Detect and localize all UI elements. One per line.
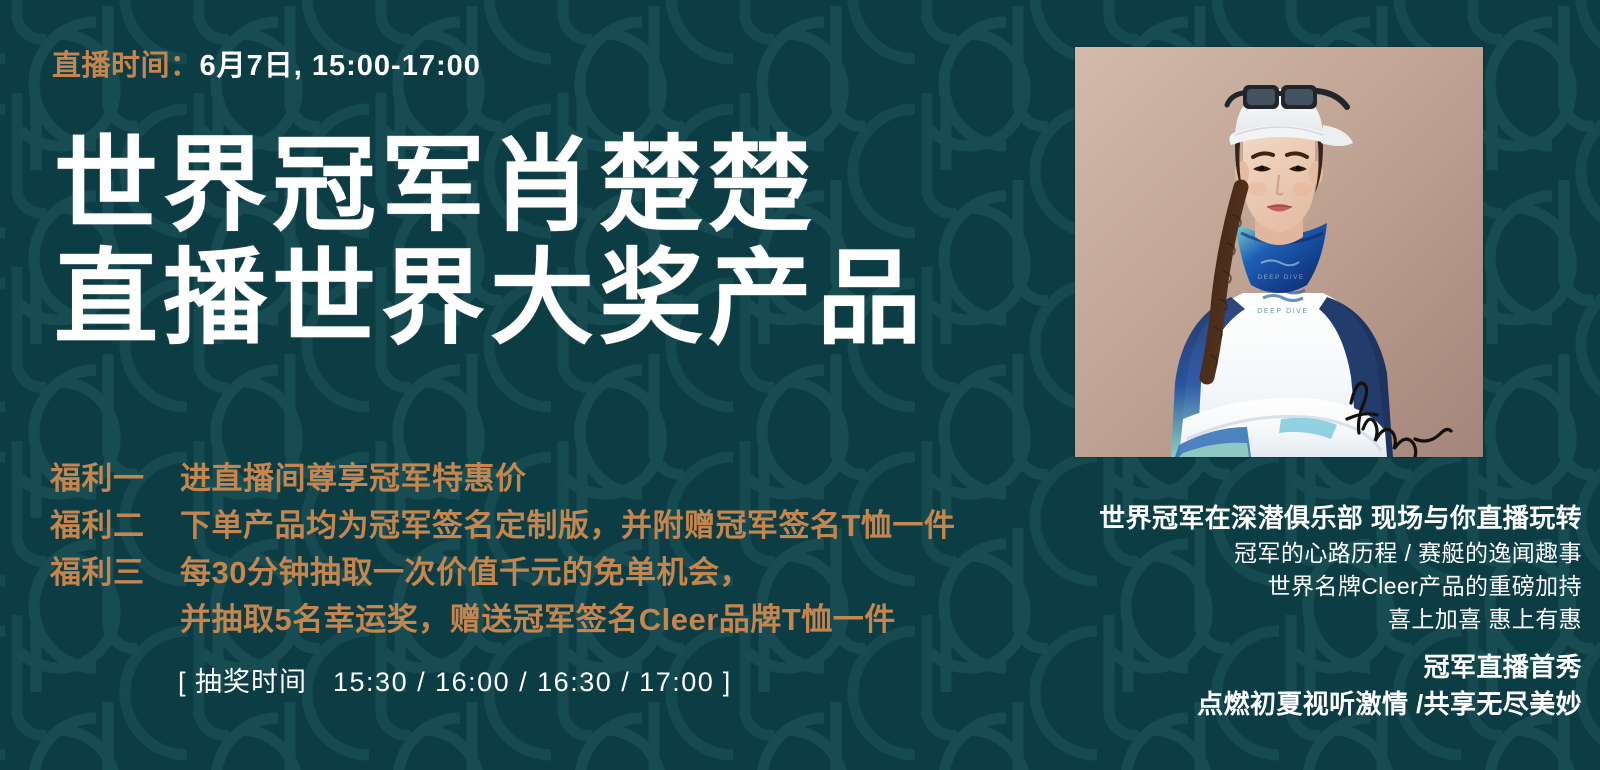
headline-line-2: 直播世界大奖产品 (54, 243, 926, 356)
promo-line-headline: 世界冠军在深潜俱乐部 现场与你直播玩转 (1060, 500, 1582, 537)
svg-text:DEEP DIVE: DEEP DIVE (1257, 308, 1309, 315)
benefit-label: 福利一 (50, 455, 180, 502)
promo-line-5: 点燃初夏视听激情 /共享无尽美妙 (1060, 686, 1582, 723)
benefit-text: 进直播间尊享冠军特惠价 (180, 455, 527, 502)
benefit-text: 并抽取5名幸运奖，赠送冠军签名Cleer品牌T恤一件 (180, 596, 896, 643)
svg-text:DEEP DIVE: DEEP DIVE (1257, 274, 1304, 281)
live-time-label: 直播时间： (52, 50, 200, 82)
benefit-text: 每30分钟抽取一次价值千元的免单机会， (180, 549, 751, 596)
right-promo-text-block: 世界冠军在深潜俱乐部 现场与你直播玩转 冠军的心路历程 / 赛艇的逸闻趣事 世界… (1060, 500, 1582, 723)
benefit-label: 福利三 (50, 549, 180, 596)
lottery-open-bracket: [ (178, 667, 195, 697)
promo-spacer (1060, 636, 1582, 649)
benefit-row: 福利二 下单产品均为冠军签名定制版，并附赠冠军签名T恤一件 (50, 502, 955, 549)
champion-portrait-photo: DEEP DIVE DEEP DIVE (1075, 47, 1483, 457)
promo-line-1: 冠军的心路历程 / 赛艇的逸闻趣事 (1060, 537, 1582, 570)
promo-banner: 直播时间：6月7日, 15:00-17:00 世界冠军肖楚楚 直播世界大奖产品 … (0, 0, 1600, 770)
promo-line-4: 冠军直播首秀 (1060, 649, 1582, 686)
benefit-row: 福利三 每30分钟抽取一次价值千元的免单机会， (50, 549, 955, 596)
lottery-time-note: [ 抽奖时间15:30 / 16:00 / 16:30 / 17:00 ] (178, 660, 731, 699)
right-content-column: DEEP DIVE DEEP DIVE (1060, 0, 1600, 770)
benefit-row: 福利一 进直播间尊享冠军特惠价 (50, 455, 955, 502)
benefit-row-continuation: 福利三 并抽取5名幸运奖，赠送冠军签名Cleer品牌T恤一件 (50, 596, 955, 643)
benefits-list: 福利一 进直播间尊享冠军特惠价 福利二 下单产品均为冠军签名定制版，并附赠冠军签… (50, 455, 955, 643)
left-content-column: 直播时间：6月7日, 15:00-17:00 世界冠军肖楚楚 直播世界大奖产品 … (0, 0, 1060, 770)
live-time-value: 6月7日, 15:00-17:00 (200, 50, 481, 82)
page-title: 世界冠军肖楚楚 直播世界大奖产品 (54, 130, 926, 357)
lottery-close-bracket: ] (714, 667, 731, 697)
promo-line-3: 喜上加喜 惠上有惠 (1060, 603, 1582, 636)
benefit-label: 福利二 (50, 502, 180, 549)
lottery-times: 15:30 / 16:00 / 16:30 / 17:00 (333, 667, 714, 697)
benefit-text: 下单产品均为冠军签名定制版，并附赠冠军签名T恤一件 (180, 502, 955, 549)
lottery-label: 抽奖时间 (195, 667, 307, 697)
live-time-row: 直播时间：6月7日, 15:00-17:00 (52, 42, 481, 84)
promo-line-2: 世界名牌Cleer产品的重磅加持 (1060, 570, 1582, 603)
headline-line-1: 世界冠军肖楚楚 (54, 130, 926, 243)
